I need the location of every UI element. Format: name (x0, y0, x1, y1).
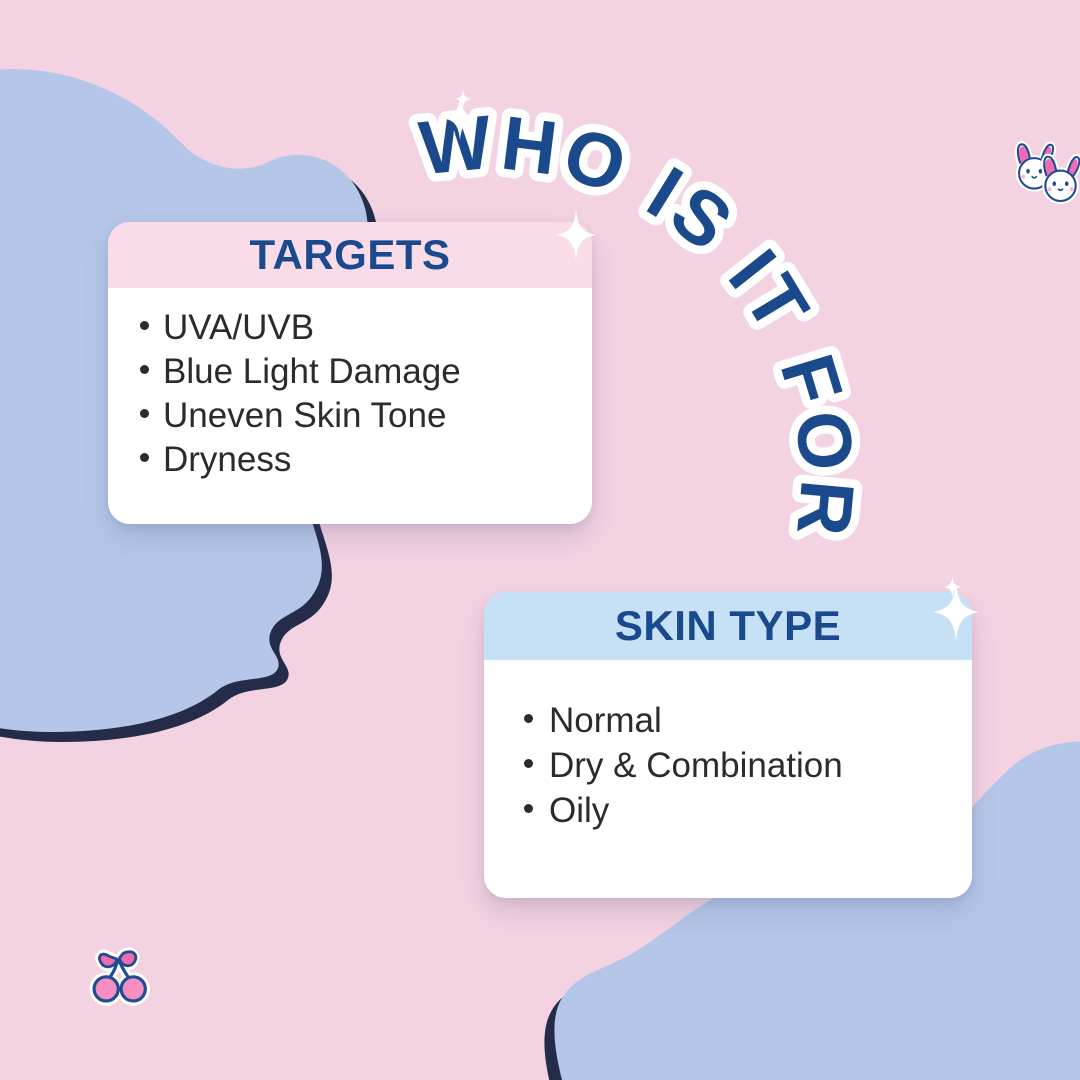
cherry-sticker (83, 932, 155, 1006)
list-item-label: Oily (549, 788, 609, 833)
list-item-label: Uneven Skin Tone (163, 394, 446, 438)
list-item-label: Normal (549, 698, 662, 743)
background-decoration-layer (0, 0, 1080, 1080)
list-item-label: UVA/UVB (163, 306, 314, 350)
bullet-icon (140, 365, 149, 374)
targets-list: UVA/UVB Blue Light Damage Uneven Skin To… (140, 306, 592, 482)
list-item-label: Dryness (163, 438, 291, 482)
list-item: Uneven Skin Tone (140, 394, 592, 438)
bullet-icon (140, 409, 149, 418)
bullet-icon (140, 453, 149, 462)
card-skin-type-header: SKIN TYPE (484, 592, 972, 660)
list-item: Normal (524, 698, 972, 743)
bullet-icon (524, 714, 533, 723)
list-item-label: Dry & Combination (549, 743, 843, 788)
poster-canvas: WHO IS IT FOR? WHO IS IT FOR? TARGETS UV… (0, 0, 1080, 1080)
list-item: Oily (524, 788, 972, 833)
blue-cloud-shapes (0, 0, 1080, 1080)
card-targets[interactable]: TARGETS UVA/UVB Blue Light Damage Uneven… (108, 222, 592, 524)
list-item: Dry & Combination (524, 743, 972, 788)
card-skin-type[interactable]: SKIN TYPE Normal Dry & Combination Oily (484, 592, 972, 898)
bullet-icon (524, 759, 533, 768)
list-item: Blue Light Damage (140, 350, 592, 394)
bunny-pair-sticker (1008, 140, 1080, 206)
list-item: UVA/UVB (140, 306, 592, 350)
list-item: Dryness (140, 438, 592, 482)
card-skin-type-body: Normal Dry & Combination Oily (484, 660, 972, 851)
bullet-icon (140, 321, 149, 330)
card-targets-body: UVA/UVB Blue Light Damage Uneven Skin To… (108, 288, 592, 500)
card-targets-header: TARGETS (108, 222, 592, 288)
list-item-label: Blue Light Damage (163, 350, 461, 394)
bullet-icon (524, 804, 533, 813)
skin-type-list: Normal Dry & Combination Oily (524, 698, 972, 833)
